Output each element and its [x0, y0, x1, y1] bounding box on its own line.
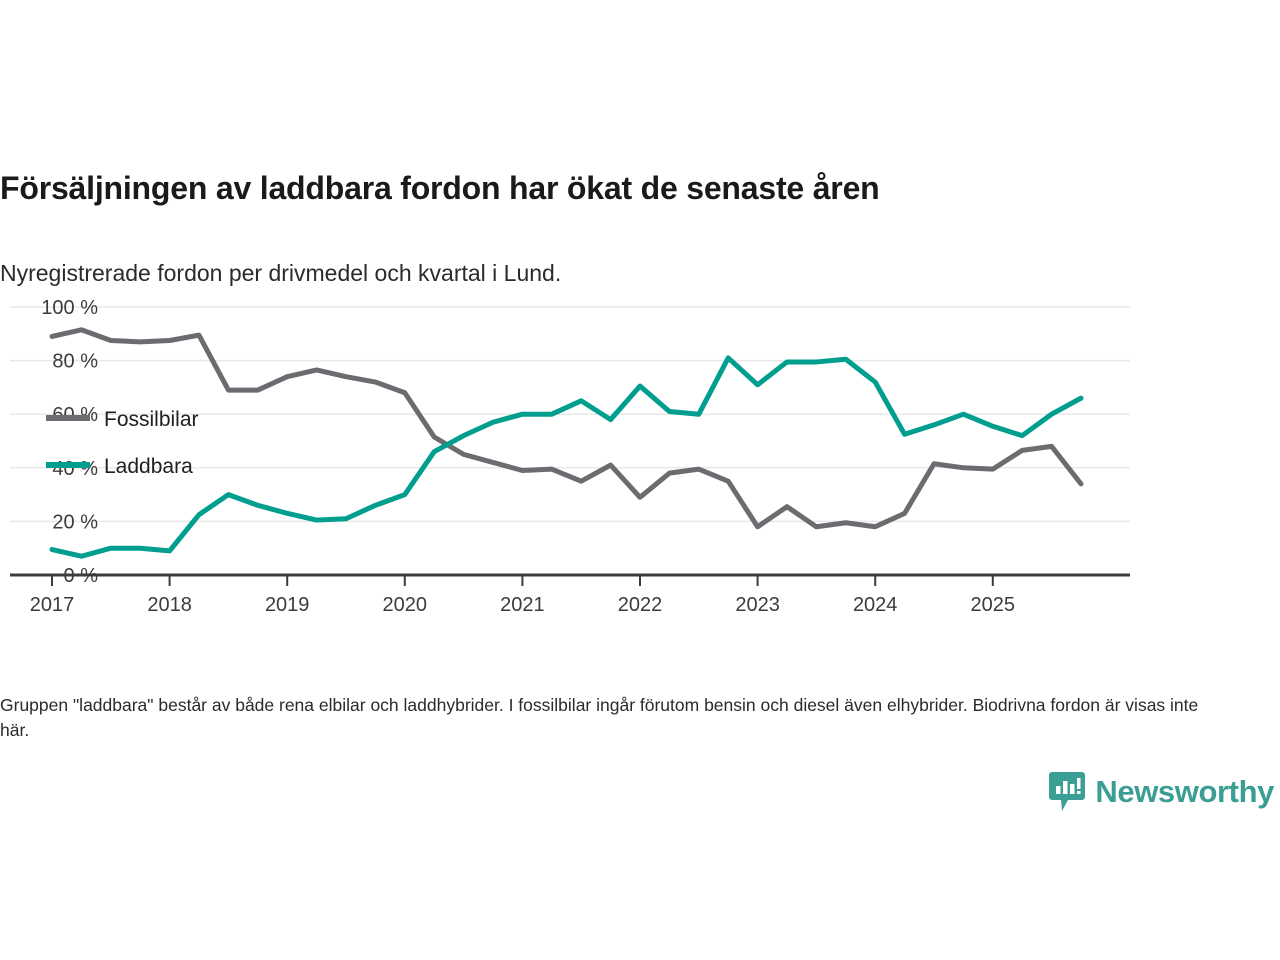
x-axis-tick-label: 2021 — [500, 594, 545, 616]
legend-label: Laddbara — [104, 455, 193, 478]
x-axis-tick-label: 2018 — [147, 594, 192, 616]
data-series — [52, 330, 1081, 556]
y-axis-tick-label: 0 % — [64, 565, 99, 587]
page-title: Försäljningen av laddbara fordon har öka… — [0, 169, 1260, 207]
x-axis-tick-label: 2019 — [265, 594, 310, 616]
y-axis-tick-label: 40 % — [52, 458, 98, 480]
newsworthy-logo: Newsworthy — [1048, 770, 1274, 814]
bar-chart-speech-bubble-icon — [1048, 770, 1086, 814]
series-line-laddbara — [52, 358, 1081, 556]
chart-container: 0 %20 %40 %60 %80 %100 % 201720182019202… — [0, 288, 1280, 628]
logo-wordmark: Newsworthy — [1095, 774, 1274, 810]
chart-footnote: Gruppen "laddbara" består av både rena e… — [0, 693, 1215, 743]
legend-label: Fossilbilar — [104, 408, 199, 431]
x-axis-tick-label: 2020 — [383, 594, 428, 616]
grid-lines — [10, 307, 1130, 575]
x-axis-tick-label: 2023 — [735, 594, 780, 616]
page-subtitle: Nyregistrerade fordon per drivmedel och … — [0, 259, 1260, 287]
y-axis-tick-label: 20 % — [52, 511, 98, 533]
x-axis-tick-label: 2017 — [30, 594, 75, 616]
x-axis — [52, 575, 993, 586]
x-axis-tick-label: 2025 — [971, 594, 1016, 616]
y-axis-tick-label: 80 % — [52, 351, 98, 373]
line-chart: 0 %20 %40 %60 %80 %100 % 201720182019202… — [0, 288, 1280, 628]
chart-legend: FossilbilarLaddbara — [46, 408, 199, 478]
x-axis-tick-label: 2022 — [618, 594, 663, 616]
x-axis-labels: 201720182019202020212022202320242025 — [30, 594, 1015, 616]
y-axis-tick-label: 100 % — [41, 297, 98, 319]
x-axis-tick-label: 2024 — [853, 594, 898, 616]
chart-page: Försäljningen av laddbara fordon har öka… — [0, 0, 1280, 960]
y-axis-labels: 0 %20 %40 %60 %80 %100 % — [41, 297, 98, 587]
